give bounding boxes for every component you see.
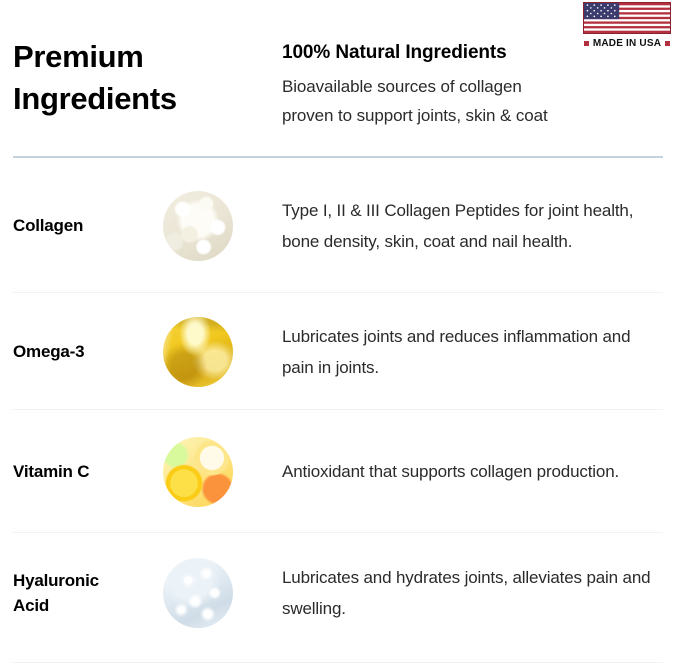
header-section: Premium Ingredients 100% Natural Ingredi… bbox=[0, 0, 679, 157]
header-subtitle-line-1: Bioavailable sources of collagen bbox=[282, 72, 672, 101]
ingredient-name-collagen: Collagen bbox=[0, 213, 163, 238]
bottom-divider bbox=[13, 662, 663, 663]
ingredient-name-line-2: Acid bbox=[13, 593, 163, 618]
page-title-line-2: Ingredients bbox=[13, 78, 263, 120]
ingredient-description-omega-3: Lubricates joints and reduces inflammati… bbox=[282, 321, 679, 383]
citrus-fruit-image bbox=[163, 437, 233, 507]
ingredient-description-collagen: Type I, II & III Collagen Peptides for j… bbox=[282, 195, 679, 257]
omega-3-oil-image bbox=[163, 317, 233, 387]
header-subtitle: Bioavailable sources of collagen proven … bbox=[282, 72, 672, 130]
ingredient-name-line-1: Hyaluronic bbox=[13, 568, 163, 593]
ingredient-row-vitamin-c: Vitamin C Antioxidant that supports coll… bbox=[0, 410, 679, 533]
ingredient-list: Collagen Type I, II & III Collagen Pepti… bbox=[0, 158, 679, 653]
page-title-line-1: Premium bbox=[13, 36, 263, 78]
ingredient-thumb-cell bbox=[163, 558, 282, 628]
header-subtitle-line-2: proven to support joints, skin & coat bbox=[282, 101, 672, 130]
ingredient-row-hyaluronic-acid: Hyaluronic Acid Lubricates and hydrates … bbox=[0, 533, 679, 653]
ingredient-name-omega-3: Omega-3 bbox=[0, 339, 163, 364]
ingredient-thumb-cell bbox=[163, 191, 282, 261]
page-title: Premium Ingredients bbox=[13, 36, 263, 120]
header-copy: 100% Natural Ingredients Bioavailable so… bbox=[282, 40, 672, 130]
collagen-powder-image bbox=[163, 191, 233, 261]
header-headline: 100% Natural Ingredients bbox=[282, 40, 672, 66]
ingredient-thumb-cell bbox=[163, 437, 282, 507]
ingredient-row-omega-3: Omega-3 Lubricates joints and reduces in… bbox=[0, 293, 679, 410]
water-droplets-image bbox=[163, 558, 233, 628]
ingredient-name-vitamin-c: Vitamin C bbox=[0, 459, 163, 484]
ingredient-thumb-cell bbox=[163, 317, 282, 387]
ingredient-row-collagen: Collagen Type I, II & III Collagen Pepti… bbox=[0, 158, 679, 293]
ingredient-description-vitamin-c: Antioxidant that supports collagen produ… bbox=[282, 456, 679, 487]
ingredient-name-hyaluronic-acid: Hyaluronic Acid bbox=[0, 568, 163, 618]
ingredient-description-hyaluronic-acid: Lubricates and hydrates joints, alleviat… bbox=[282, 562, 679, 624]
